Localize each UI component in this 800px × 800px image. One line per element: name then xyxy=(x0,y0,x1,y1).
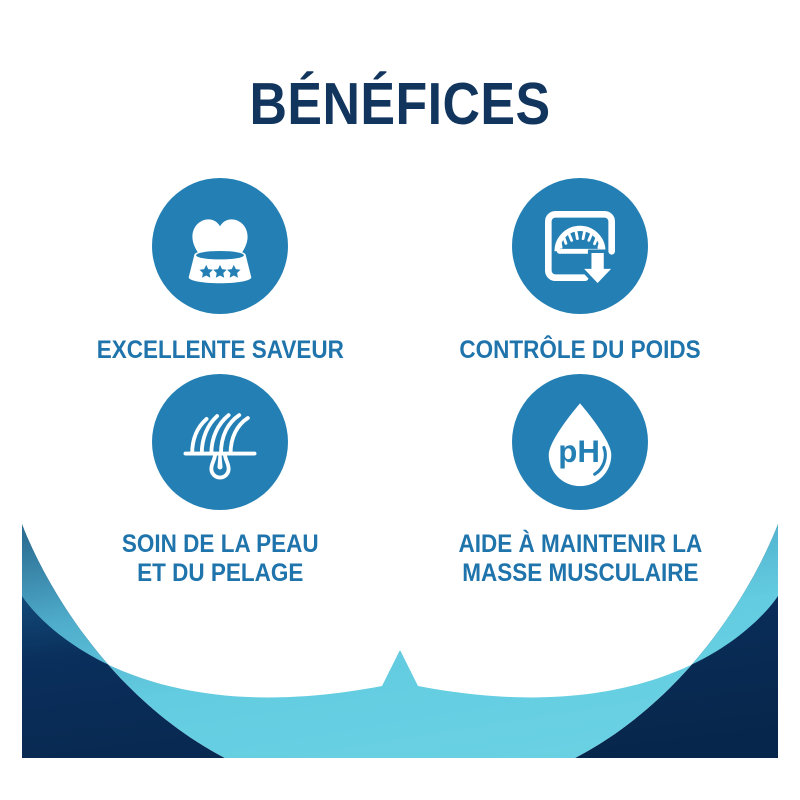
ph-label: pH xyxy=(558,434,600,469)
benefit-label: SOIN DE LA PEAU ET DU PELAGE xyxy=(122,530,319,588)
benefit-item-excellente-saveur: EXCELLENTE SAVEUR xyxy=(40,178,400,374)
benefit-label: AIDE À MAINTENIR LA MASSE MUSCULAIRE xyxy=(458,530,702,588)
hair-follicle-icon xyxy=(172,394,268,490)
page-title: BÉNÉFICES xyxy=(48,72,752,136)
benefit-label: CONTRÔLE DU POIDS xyxy=(459,336,700,365)
benefit-label: EXCELLENTE SAVEUR xyxy=(96,336,343,365)
benefits-grid: EXCELLENTE SAVEUR xyxy=(40,178,760,604)
benefit-icon-circle xyxy=(152,178,288,314)
heart-bowl-icon xyxy=(174,200,266,292)
benefit-icon-circle: pH xyxy=(512,374,648,510)
benefit-item-controle-du-poids: CONTRÔLE DU POIDS xyxy=(400,178,760,374)
benefit-item-masse-musculaire: pH AIDE À MAINTENIR LA MASSE MUSCULAIRE xyxy=(400,374,760,604)
ph-water-drop-icon: pH xyxy=(534,396,626,488)
benefit-item-soin-peau-pelage: SOIN DE LA PEAU ET DU PELAGE xyxy=(40,374,400,604)
benefit-icon-circle xyxy=(152,374,288,510)
benefits-poster: BÉNÉFICES xyxy=(0,0,800,800)
weight-scale-down-arrow-icon xyxy=(536,202,624,290)
benefit-icon-circle xyxy=(512,178,648,314)
